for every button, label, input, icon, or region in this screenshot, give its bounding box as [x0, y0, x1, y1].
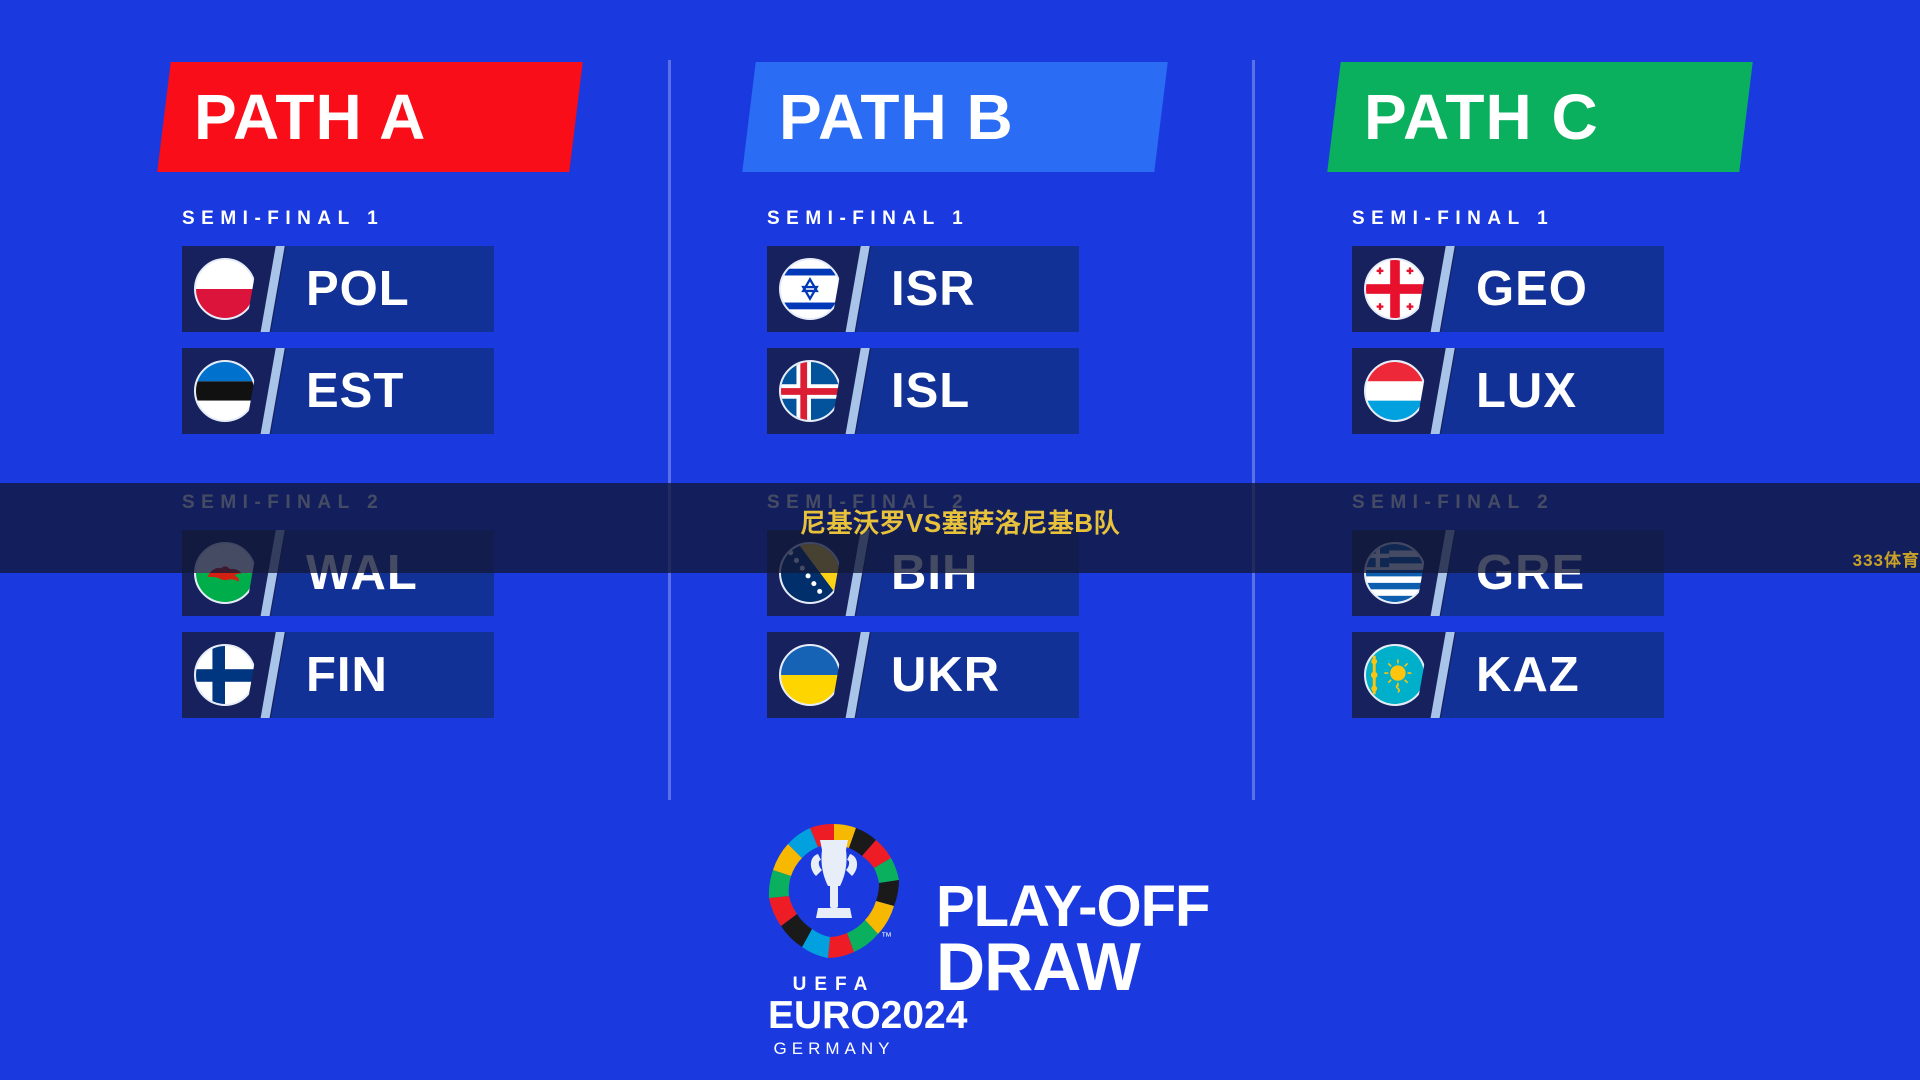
path-b-semifinal-1-label: SEMI-FINAL 1 — [767, 208, 1175, 230]
playoff-title-line2: DRAW — [936, 935, 1209, 1000]
path-a-title: PATH A — [194, 85, 426, 149]
team-code-pol: POL — [306, 265, 410, 314]
georgia-flag-icon — [1364, 258, 1426, 320]
match-caption-text: 尼基沃罗VS塞萨洛尼基B队 — [0, 503, 1920, 540]
playoff-draw-title: PLAY-OFF DRAW — [936, 879, 1209, 1000]
path-c-title: PATH C — [1364, 85, 1599, 149]
footer-branding-lockup: ™ UEFA EURO2024 GERMANY PLAY-OFF DRAW — [768, 820, 1209, 1059]
team-row-ukr[interactable]: UKR — [767, 632, 1079, 718]
team-code-est: EST — [306, 367, 404, 416]
team-code-geo: GEO — [1476, 265, 1588, 314]
uefa-text: UEFA — [768, 974, 900, 996]
path-column-b: PATH B SEMI-FINAL 1 ISR — [745, 62, 1175, 718]
euro-2024-wordmark: UEFA EURO2024 GERMANY — [768, 974, 900, 1059]
path-column-a: PATH A SEMI-FINAL 1 POL EST SEMI-FINA — [160, 62, 590, 718]
israel-flag-icon — [779, 258, 841, 320]
team-code-kaz: KAZ — [1476, 651, 1580, 700]
euro-2024-text: EURO2024 — [768, 996, 900, 1037]
path-a-semifinal-1-label: SEMI-FINAL 1 — [182, 208, 590, 230]
team-row-fin[interactable]: FIN — [182, 632, 494, 718]
iceland-flag-icon — [779, 360, 841, 422]
finland-flag-icon — [194, 644, 256, 706]
path-a-banner: PATH A — [157, 62, 583, 172]
svg-text:™: ™ — [881, 931, 892, 943]
team-row-est[interactable]: EST — [182, 348, 494, 434]
team-code-ukr: UKR — [891, 651, 1000, 700]
team-row-isr[interactable]: ISR — [767, 246, 1079, 332]
team-row-isl[interactable]: ISL — [767, 348, 1079, 434]
team-code-lux: LUX — [1476, 367, 1577, 416]
path-column-c: PATH C SEMI-FINAL 1 — [1330, 62, 1760, 718]
germany-text: GERMANY — [768, 1039, 900, 1059]
euro-2024-logo: ™ UEFA EURO2024 GERMANY — [768, 820, 900, 1059]
ukraine-flag-icon — [779, 644, 841, 706]
euro-2024-trophy-icon: ™ — [768, 820, 900, 970]
team-row-geo[interactable]: GEO — [1352, 246, 1664, 332]
luxembourg-flag-icon — [1364, 360, 1426, 422]
kazakhstan-flag-icon — [1364, 644, 1426, 706]
path-c-semifinal-1-label: SEMI-FINAL 1 — [1352, 208, 1760, 230]
playoff-title-line1: PLAY-OFF — [936, 879, 1209, 935]
path-b-banner: PATH B — [742, 62, 1168, 172]
team-code-isr: ISR — [891, 265, 976, 314]
team-code-fin: FIN — [306, 651, 388, 700]
column-divider-a-b — [668, 60, 671, 800]
poland-flag-icon — [194, 258, 256, 320]
column-divider-b-c — [1252, 60, 1255, 800]
team-row-lux[interactable]: LUX — [1352, 348, 1664, 434]
site-watermark: 333体育 — [1853, 546, 1920, 571]
estonia-flag-icon — [194, 360, 256, 422]
path-b-title: PATH B — [779, 85, 1014, 149]
playoff-draw-graphic: PATH A SEMI-FINAL 1 POL EST SEMI-FINA — [0, 0, 1920, 1080]
team-code-isl: ISL — [891, 367, 970, 416]
team-row-kaz[interactable]: KAZ — [1352, 632, 1664, 718]
path-c-banner: PATH C — [1327, 62, 1753, 172]
team-row-pol[interactable]: POL — [182, 246, 494, 332]
